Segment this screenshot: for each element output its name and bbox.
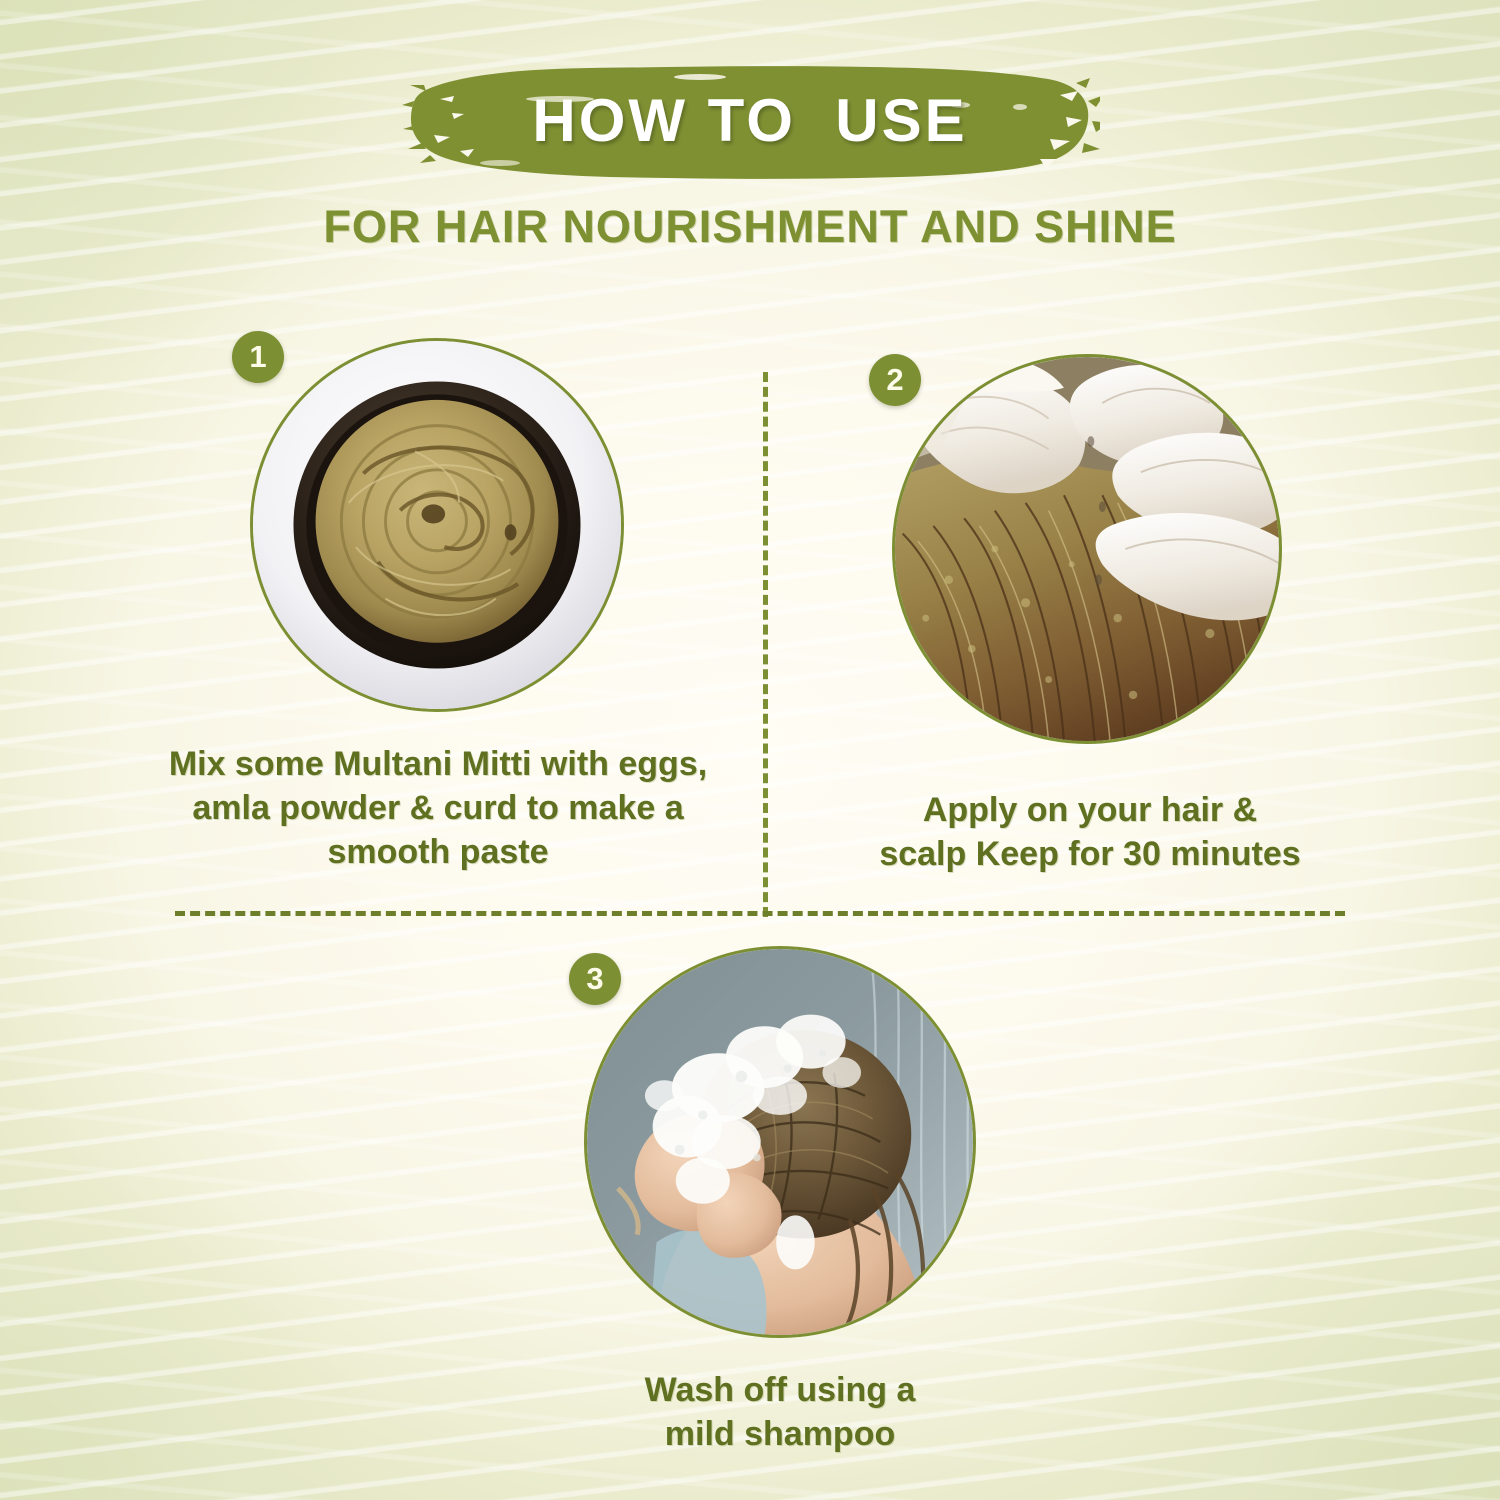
page-subtitle: FOR HAIR NOURISHMENT AND SHINE — [0, 201, 1500, 253]
hair-washing-illustration — [587, 949, 973, 1335]
step-2-photo — [892, 354, 1282, 744]
header: HOW TO USE FOR HAIR NOURISHMENT AND SHIN… — [0, 0, 1500, 253]
infographic-page: HOW TO USE FOR HAIR NOURISHMENT AND SHIN… — [0, 0, 1500, 1500]
step-3-caption: Wash off using a mild shampoo — [480, 1368, 1080, 1456]
step-2-badge: 2 — [869, 354, 921, 406]
page-title: HOW TO USE — [400, 55, 1100, 185]
step-2-caption: Apply on your hair & scalp Keep for 30 m… — [790, 788, 1390, 876]
bowl-of-multani-mitti-paste-image — [253, 341, 621, 709]
step-1-badge: 1 — [232, 331, 284, 383]
woman-washing-hair-with-shampoo-image — [587, 949, 973, 1335]
gloved-hands-applying-paste-to-hair-image — [895, 357, 1279, 741]
step-3-photo — [584, 946, 976, 1338]
step-1-photo — [250, 338, 624, 712]
hands-applying-paste-illustration — [895, 357, 1279, 741]
title-brush-banner: HOW TO USE — [400, 55, 1100, 185]
horizontal-dashed-divider — [175, 911, 1345, 916]
bowl-paste-illustration — [253, 341, 621, 709]
step-1-caption: Mix some Multani Mitti with eggs, amla p… — [108, 742, 768, 875]
step-3-badge: 3 — [569, 953, 621, 1005]
